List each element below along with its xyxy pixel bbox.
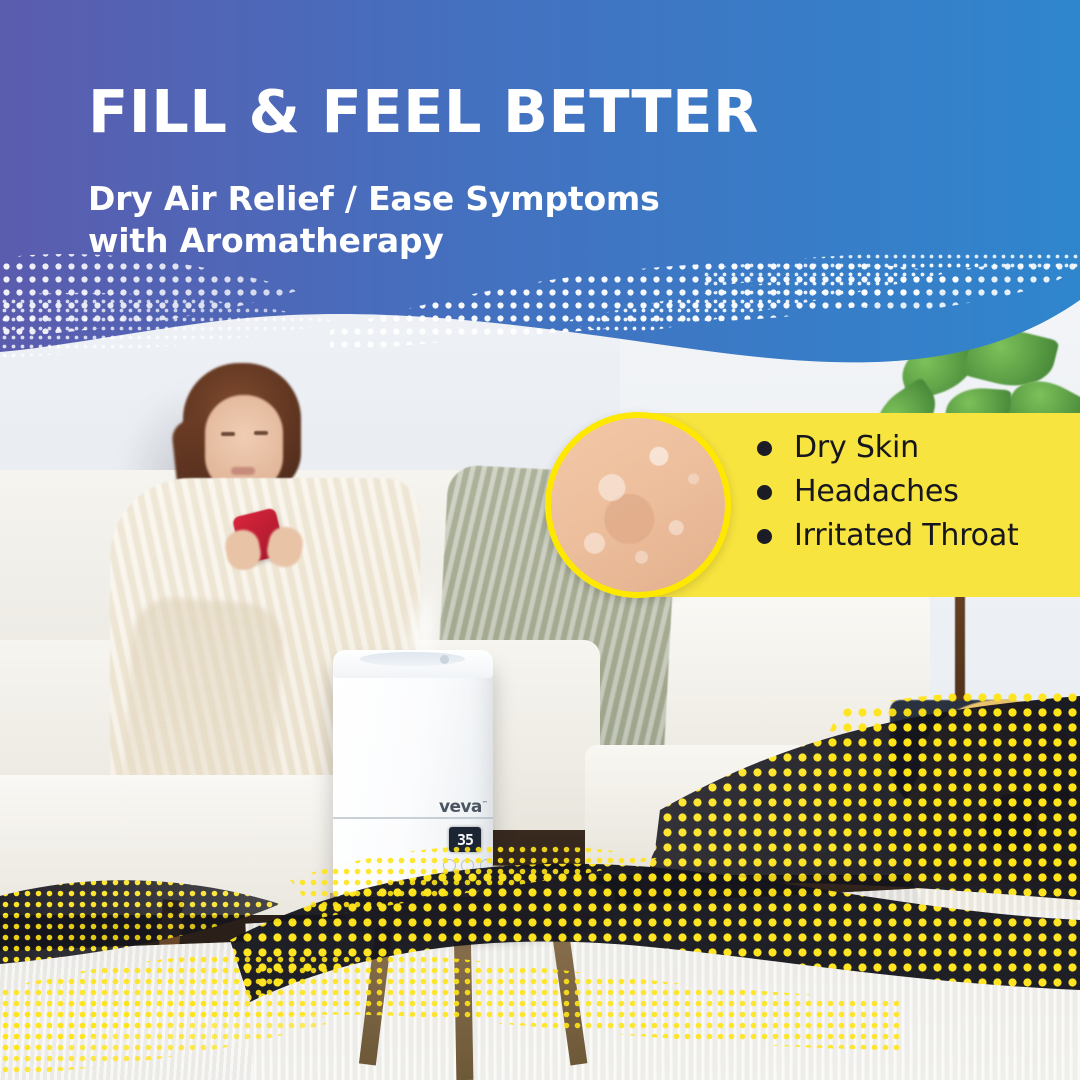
product-marketing-image: veva™ 35: [0, 0, 1080, 1080]
page-subtitle: Dry Air Relief / Ease Symptoms with Arom…: [88, 178, 660, 262]
bullet-icon: [757, 441, 772, 456]
header-banner: FILL & FEEL BETTER Dry Air Relief / Ease…: [0, 0, 1080, 400]
woman-eye-left: [221, 432, 235, 436]
symptom-label: Dry Skin: [794, 433, 919, 463]
page-subtitle-line-2: with Aromatherapy: [88, 220, 660, 262]
symptoms-list: Dry Skin Headaches Irritated Throat: [757, 433, 1019, 551]
list-item: Dry Skin: [757, 433, 1019, 463]
page-title: FILL & FEEL BETTER: [88, 82, 759, 141]
bullet-icon: [757, 485, 772, 500]
humidifier-lid-inset: [360, 652, 465, 666]
bullet-icon: [757, 529, 772, 544]
woman-eye-right: [254, 431, 268, 435]
page-subtitle-line-1: Dry Air Relief / Ease Symptoms: [88, 178, 660, 220]
symptom-label: Irritated Throat: [794, 521, 1019, 551]
symptom-label: Headaches: [794, 477, 959, 507]
list-item: Irritated Throat: [757, 521, 1019, 551]
dry-skin-closeup-image: [545, 412, 731, 598]
yellow-accent-wave: [0, 690, 1080, 1080]
list-item: Headaches: [757, 477, 1019, 507]
woman-lips: [231, 467, 255, 475]
humidifier-mist-nozzle: [440, 655, 449, 664]
